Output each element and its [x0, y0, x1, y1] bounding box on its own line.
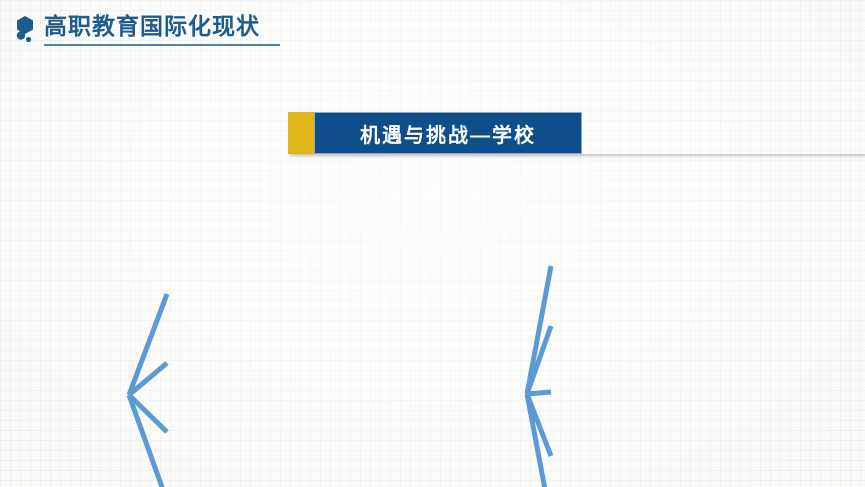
- connector-right-0: [527, 266, 551, 394]
- connector-right-1: [527, 326, 551, 394]
- connector-left-0: [129, 294, 167, 395]
- slide-canvas: 高职教育国际化现状 机遇与挑战—学校 机遇 挑战: [0, 0, 865, 487]
- title-underline: [44, 44, 280, 46]
- hexagon-bullet-icon: [12, 14, 42, 44]
- connector-right-3: [527, 394, 551, 456]
- banner-accent-block: [288, 112, 314, 154]
- connector-left-1: [129, 363, 167, 395]
- section-banner: 机遇与挑战—学校: [288, 112, 865, 154]
- banner-title: 机遇与挑战—学校: [360, 119, 536, 148]
- connector-right-4: [527, 394, 551, 487]
- connector-right-2: [527, 392, 551, 394]
- connector-left-2: [129, 395, 167, 432]
- page-title: 高职教育国际化现状: [44, 10, 260, 42]
- slide-header: 高职教育国际化现状: [0, 0, 865, 52]
- connector-left-3: [129, 395, 167, 487]
- banner-main-block: 机遇与挑战—学校: [314, 112, 582, 154]
